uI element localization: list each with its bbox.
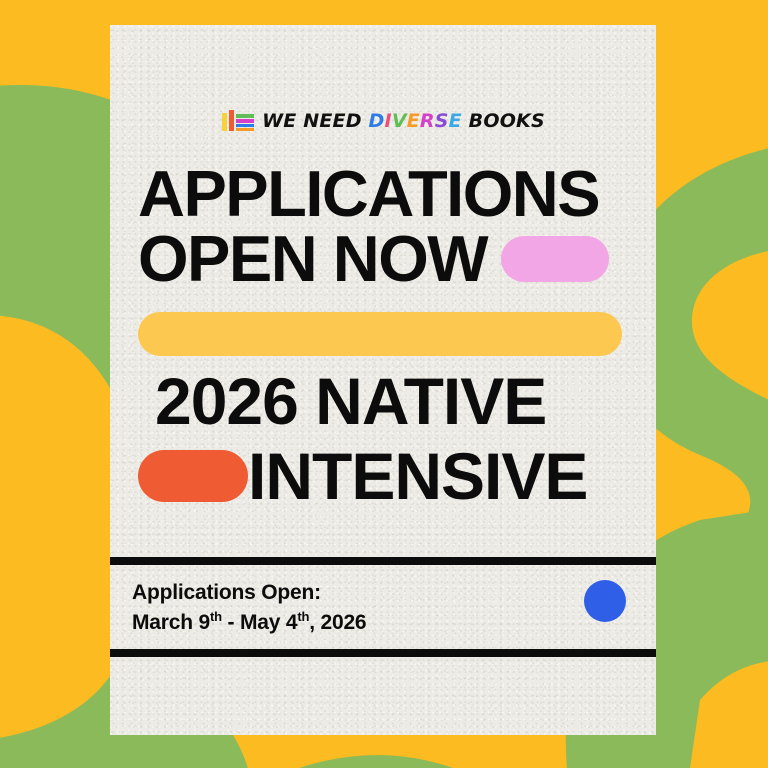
footer-end-day: 4 [286,611,297,634]
logo-word-books: BOOKS [469,110,545,132]
logo-letter-i: I [385,110,392,132]
footer-end-ordinal: th [297,609,309,624]
divider-rule-bottom [110,649,656,657]
footer-start-month: March [132,611,193,634]
footer-start-ordinal: th [210,609,222,624]
wndb-logo[interactable]: WE NEED DIVERSE BOOKS [110,110,656,132]
footer-start-day: 9 [199,611,210,634]
headline-line-intensive: INTENSIVE [248,445,587,508]
applications-open-block: Applications Open: March 9th - May 4th, … [132,578,366,638]
wndb-logo-text: WE NEED DIVERSE BOOKS [262,112,545,131]
divider-rule-top [110,557,656,565]
headline-line-open-now-row: OPEN NOW [138,228,609,290]
yellow-bar-shape [138,312,622,356]
logo-letter-r: R [420,110,435,132]
orange-pill-shape [138,450,248,502]
poster-card: WE NEED DIVERSE BOOKS APPLICATIONS OPEN … [110,25,656,735]
books-stack-icon [221,110,255,132]
poster-canvas: WE NEED DIVERSE BOOKS APPLICATIONS OPEN … [0,0,768,768]
logo-letter-e: E [407,110,420,132]
logo-letter-d: D [369,110,385,132]
footer-year: , 2026 [309,611,366,634]
blue-dot-shape [584,580,626,622]
headline-line-intensive-row: INTENSIVE [138,445,587,508]
footer-label: Applications Open: [132,578,366,608]
footer-end-month: May [240,611,280,634]
logo-letter-s: S [435,110,449,132]
logo-letter-e2: E [449,110,462,132]
headline-line-open-now: OPEN NOW [138,228,487,290]
logo-word-we-need: WE NEED [262,110,362,132]
pink-pill-shape [501,236,609,282]
headline-line-applications: APPLICATIONS [138,163,599,225]
footer-date-separator: - [222,611,240,634]
headline-line-2026-native: 2026 NATIVE [155,370,546,433]
footer-date-line: March 9th - May 4th, 2026 [132,608,366,638]
logo-letter-v: V [392,110,407,132]
